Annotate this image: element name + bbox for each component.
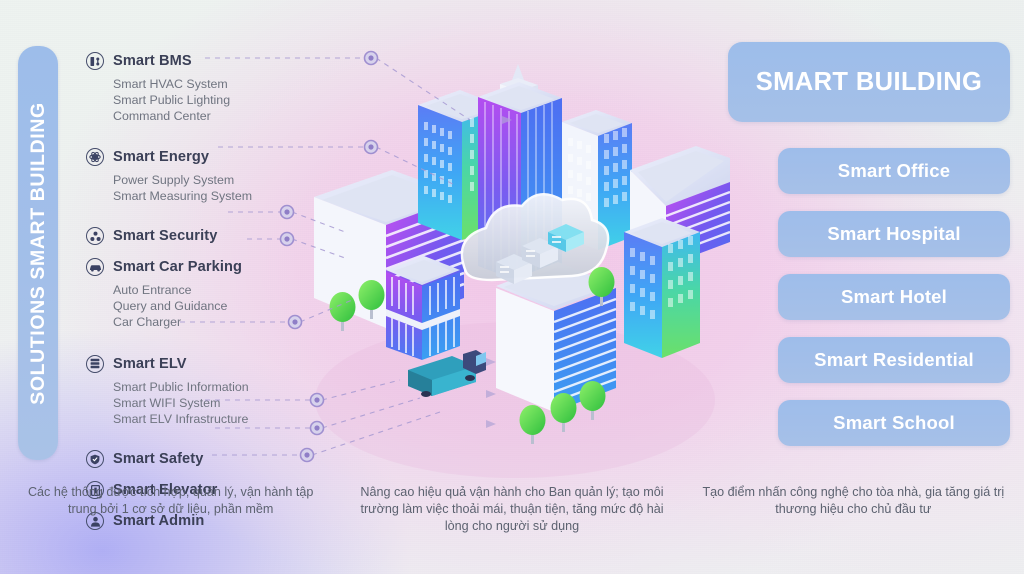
shield-icon xyxy=(86,450,104,468)
atom-icon xyxy=(86,148,104,166)
solution-sublist: Smart Public Information Smart WIFI Syst… xyxy=(113,379,336,428)
server-icon xyxy=(86,355,104,373)
vertical-section-tab[interactable]: SOLUTIONS SMART BUILDING xyxy=(18,46,58,460)
rail-button-label: Smart Office xyxy=(838,160,950,182)
solution-title: Smart ELV xyxy=(113,356,187,372)
solution-group-smart-energy[interactable]: Smart Energy Power Supply System Smart M… xyxy=(86,146,336,204)
solution-sub-item: Smart Public Information xyxy=(113,379,336,395)
rail-button-smart-residential[interactable]: Smart Residential xyxy=(778,337,1010,383)
bms-icon xyxy=(86,52,104,70)
solution-sub-item: Smart WIFI System xyxy=(113,395,336,411)
rail-button-smart-hotel[interactable]: Smart Hotel xyxy=(778,274,1010,320)
solution-group-smart-bms[interactable]: Smart BMS Smart HVAC System Smart Public… xyxy=(86,50,336,125)
caption-right: Tạo điểm nhấn công nghệ cho tòa nhà, gia… xyxy=(683,484,1024,535)
solution-group-smart-safety[interactable]: Smart Safety xyxy=(86,448,336,470)
caption-row: Các hệ thống được tích hợp, quản lý, vận… xyxy=(0,484,1024,535)
caption-center: Nâng cao hiệu quả vận hành cho Ban quản … xyxy=(341,484,682,535)
solution-sub-item: Command Center xyxy=(113,108,336,124)
solution-group-smart-elv[interactable]: Smart ELV Smart Public Information Smart… xyxy=(86,353,336,428)
security-icon xyxy=(86,227,104,245)
rail-heading-label: SMART BUILDING xyxy=(756,68,983,97)
solution-title: Smart Safety xyxy=(113,451,203,467)
solution-title: Smart Security xyxy=(113,228,217,244)
rail-button-smart-office[interactable]: Smart Office xyxy=(778,148,1010,194)
rail-button-label: Smart Hospital xyxy=(827,223,960,245)
solution-sublist: Auto Entrance Query and Guidance Car Cha… xyxy=(113,282,336,331)
building-type-rail: SMART BUILDING Smart Office Smart Hospit… xyxy=(728,42,1010,463)
solution-title: Smart Energy xyxy=(113,149,209,165)
solution-sub-item: Smart ELV Infrastructure xyxy=(113,411,336,427)
solution-sub-item: Smart Public Lighting xyxy=(113,92,336,108)
rail-button-smart-hospital[interactable]: Smart Hospital xyxy=(778,211,1010,257)
isometric-city-illustration xyxy=(300,60,730,480)
solution-group-smart-car-parking[interactable]: Smart Car Parking Auto Entrance Query an… xyxy=(86,256,336,331)
solution-title: Smart Car Parking xyxy=(113,259,242,275)
solution-sub-item: Smart HVAC System xyxy=(113,76,336,92)
solution-sub-item: Smart Measuring System xyxy=(113,188,336,204)
solution-sub-item: Car Charger xyxy=(113,314,336,330)
solutions-list: Smart BMS Smart HVAC System Smart Public… xyxy=(86,46,336,532)
solution-sub-item: Power Supply System xyxy=(113,172,336,188)
solution-sub-item: Auto Entrance xyxy=(113,282,336,298)
vertical-section-tab-label: SOLUTIONS SMART BUILDING xyxy=(27,102,50,405)
car-icon xyxy=(86,258,104,276)
infographic-canvas: SOLUTIONS SMART BUILDING Smart BMS Smart… xyxy=(0,0,1024,574)
rail-button-smart-school[interactable]: Smart School xyxy=(778,400,1010,446)
rail-button-label: Smart School xyxy=(833,412,955,434)
rail-heading-smart-building[interactable]: SMART BUILDING xyxy=(728,42,1010,122)
rail-button-label: Smart Hotel xyxy=(841,286,947,308)
solution-sublist: Power Supply System Smart Measuring Syst… xyxy=(113,172,336,204)
caption-left: Các hệ thống được tích hợp, quản lý, vận… xyxy=(0,484,341,535)
rail-button-label: Smart Residential xyxy=(814,349,974,371)
solution-sub-item: Query and Guidance xyxy=(113,298,336,314)
solution-group-smart-security[interactable]: Smart Security xyxy=(86,225,336,247)
solution-sublist: Smart HVAC System Smart Public Lighting … xyxy=(113,76,336,125)
solution-title: Smart BMS xyxy=(113,53,192,69)
